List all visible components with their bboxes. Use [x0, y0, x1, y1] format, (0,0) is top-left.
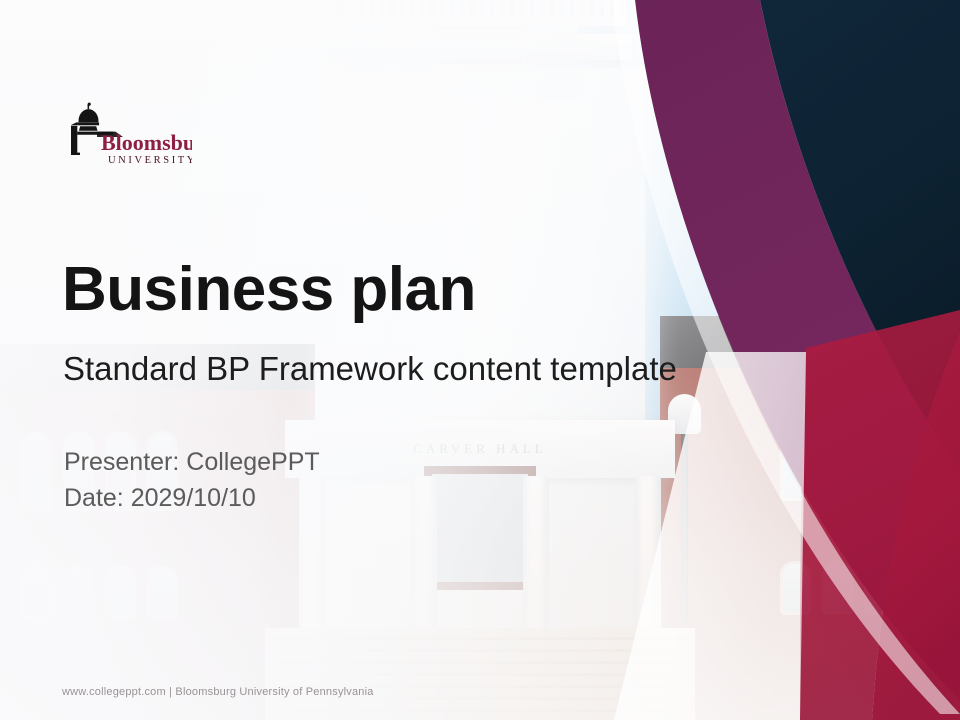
- page-title: Business plan: [62, 257, 476, 322]
- slide-content: Bloomsburg UNIVERSITY Business plan Stan…: [0, 0, 960, 720]
- date-line: Date: 2029/10/10: [64, 481, 320, 517]
- presenter-line: Presenter: CollegePPT: [64, 445, 320, 481]
- logo-tagline: UNIVERSITY: [108, 155, 192, 166]
- presentation-slide: CARVER HALL: [0, 0, 960, 720]
- bloomsburg-university-logo: Bloomsburg UNIVERSITY: [66, 98, 192, 170]
- logo-artwork: Bloomsburg UNIVERSITY: [66, 98, 192, 170]
- page-subtitle: Standard BP Framework content template: [63, 350, 677, 388]
- footer-credit: www.collegeppt.com | Bloomsburg Universi…: [62, 686, 374, 698]
- logo-wordmark: Bloomsburg: [101, 130, 192, 155]
- presentation-meta: Presenter: CollegePPT Date: 2029/10/10: [64, 445, 320, 516]
